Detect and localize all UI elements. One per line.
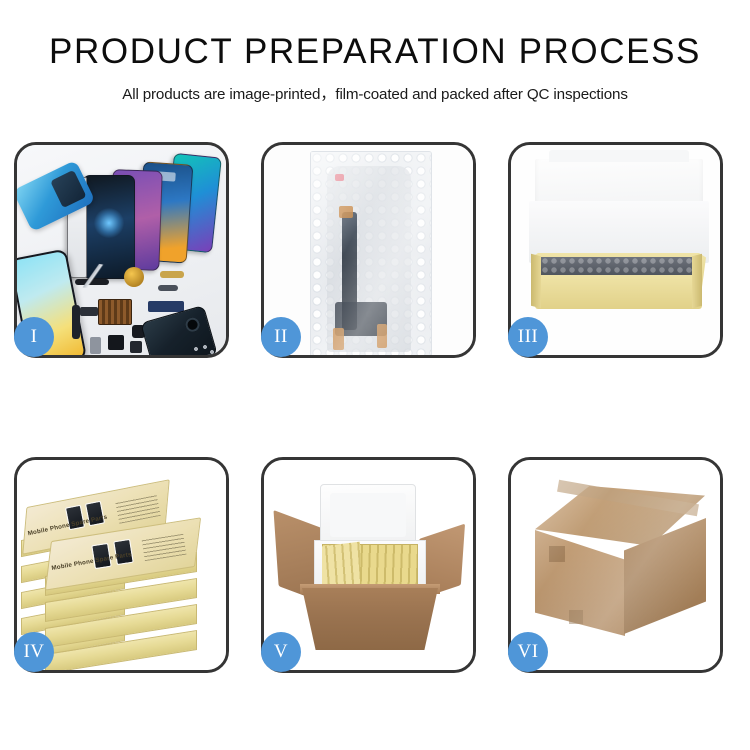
button-strip-part <box>160 271 184 278</box>
tweezers-tool <box>70 260 116 293</box>
kraft-box-front <box>535 275 702 309</box>
step-panel-6: VI <box>508 457 723 673</box>
carton-tab-1 <box>549 546 565 562</box>
product-preparation-page: PRODUCT PREPARATION PROCESS All products… <box>0 0 750 750</box>
chip-grid-part <box>98 299 132 325</box>
tape-strip-1 <box>339 206 353 218</box>
step-badge-1: I <box>14 317 54 357</box>
page-header: PRODUCT PREPARATION PROCESS All products… <box>0 0 750 104</box>
bubble-wrap-bag <box>310 151 432 355</box>
motor-part <box>130 341 142 353</box>
page-subtitle: All products are image-printed，film-coat… <box>0 82 750 104</box>
tape-strip-2 <box>333 328 344 350</box>
carton-front-panel <box>302 588 438 650</box>
step-badge-5: V <box>261 632 301 672</box>
step-panel-1: I <box>14 142 229 358</box>
step-panel-3: III <box>508 142 723 358</box>
sim-tray-part <box>90 337 101 354</box>
charging-port-part <box>108 335 124 350</box>
step-panel-2: II <box>261 142 476 358</box>
box-left-lip <box>531 254 541 308</box>
step-badge-2: II <box>261 317 301 357</box>
qc-sticker <box>335 174 344 181</box>
foam-cooler-lid <box>320 484 416 546</box>
step-panel-5: V <box>261 457 476 673</box>
tape-strip-3 <box>377 324 387 348</box>
carton-tab-2 <box>569 610 583 624</box>
flex-cable-a <box>72 305 80 339</box>
page-title: PRODUCT PREPARATION PROCESS <box>0 34 750 71</box>
vibrator-coin-part <box>124 267 144 287</box>
packed-yellow-boxes-side <box>322 542 360 589</box>
step-badge-6: VI <box>508 632 548 672</box>
spare-parts-cluster <box>72 263 226 355</box>
step-badge-4: IV <box>14 632 54 672</box>
box-right-lip <box>692 254 702 308</box>
screws-group <box>192 343 216 355</box>
step-badge-3: III <box>508 317 548 357</box>
side-button-part <box>158 285 178 291</box>
process-steps-grid: I II <box>14 142 736 673</box>
flex-cable-c <box>148 301 184 312</box>
step-panel-4: Mobile Phone Spare Parts Mobile Phone Sp… <box>14 457 229 673</box>
flex-cable-b <box>80 307 98 316</box>
